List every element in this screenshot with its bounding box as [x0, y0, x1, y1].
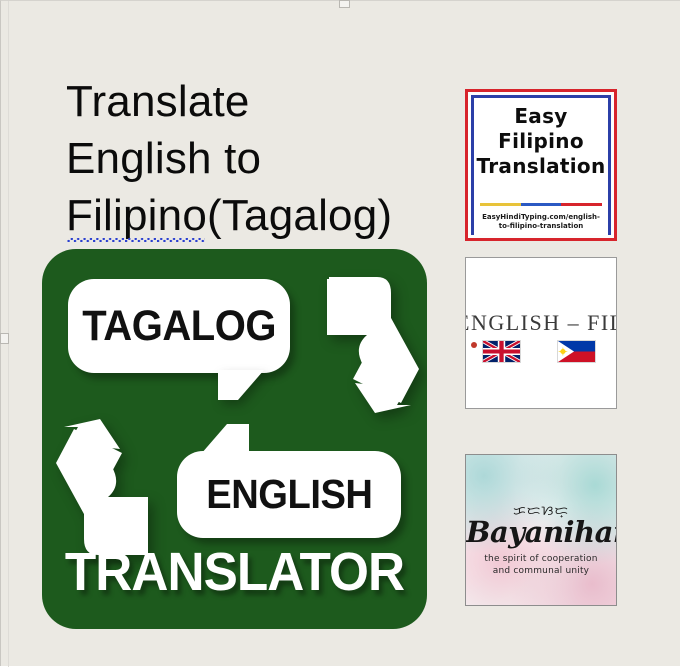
thumbnail-2-red-dot: [471, 342, 477, 348]
philippines-flag-icon: [557, 340, 596, 363]
thumbnail-1-url[interactable]: EasyHindiTyping.com/english-to-filipino-…: [478, 213, 604, 231]
translator-artwork-card[interactable]: TAGALOG ENGLISH TRANSLATOR: [42, 249, 427, 629]
speech-bubble-english-label: ENGLISH: [206, 471, 372, 518]
title-misspelled-word[interactable]: Filipino: [66, 187, 207, 244]
thumbnail-english-filipino-flags[interactable]: ENGLISH – FILIPINO: [465, 257, 617, 409]
thumbnail-easy-filipino-translation[interactable]: Easy Filipino Translation EasyHindiTypin…: [465, 89, 617, 241]
thumbnail-3-subtitle: the spirit of cooperation and communal u…: [478, 553, 604, 577]
thumbnail-1-line-3: Translation: [474, 154, 608, 179]
thumbnail-1-inner-frame: Easy Filipino Translation EasyHindiTypin…: [471, 95, 611, 235]
thumbnail-1-line-2: Filipino: [474, 129, 608, 154]
top-resize-handle[interactable]: [339, 0, 350, 8]
thumbnail-3-word: Bayanihan: [466, 515, 616, 549]
title-line-3-rest: (Tagalog): [207, 191, 392, 240]
speech-bubble-tagalog-label: TAGALOG: [82, 302, 276, 351]
recycle-arrow-down-right-icon: [323, 273, 419, 415]
thumbnail-1-line-1: Easy: [474, 104, 608, 129]
speech-bubble-english: ENGLISH: [177, 451, 401, 538]
page-title: TranslateEnglish toFilipino(Tagalog): [66, 73, 466, 244]
artwork-footer-word: TRANSLATOR: [52, 541, 418, 603]
thumbnail-bayanihan[interactable]: ᜃᜇᜐᜇ᜔ Bayanihan the spirit of cooperatio…: [465, 454, 617, 606]
recycle-arrow-up-left-icon: [56, 417, 152, 559]
title-line-1: Translate: [66, 77, 250, 126]
thumbnail-1-tricolor-rule: [480, 203, 602, 206]
speech-bubble-tagalog: TAGALOG: [68, 279, 290, 373]
page-canvas: TranslateEnglish toFilipino(Tagalog) TAG…: [0, 0, 680, 666]
left-resize-handle[interactable]: [0, 333, 9, 344]
title-line-2: English to: [66, 134, 261, 183]
thumbnail-2-title: ENGLISH – FILIPINO: [465, 310, 617, 336]
united-kingdom-flag-icon: [482, 340, 521, 363]
